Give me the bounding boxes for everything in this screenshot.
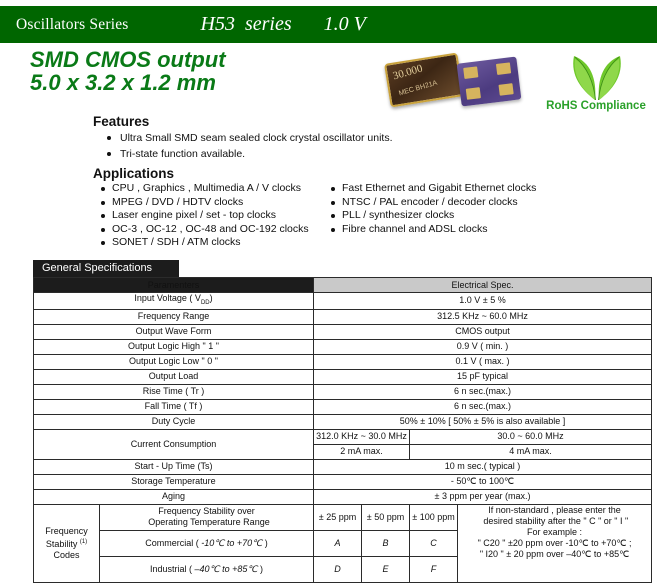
general-specifications-tab: General Specifications [33, 260, 179, 277]
value-frequency-range: 312.5 KHz ~ 60.0 MHz [314, 309, 652, 324]
fs-note-line1: If non-standard , please enter the [488, 505, 621, 515]
table-row: Rise Time ( Tr ) 6 n sec.(max.) [34, 384, 652, 399]
list-item: Ultra Small SMD seam sealed clock crysta… [104, 130, 393, 146]
fs-ppm-col-1: ± 25 ppm [314, 504, 362, 530]
table-row-frequency-stability-header: Frequency Stability (1) Codes Frequency … [34, 504, 652, 530]
param-rise-time: Rise Time ( Tr ) [34, 384, 314, 399]
fs-header-line1: Frequency Stability over [158, 506, 255, 516]
value-output-wave-form: CMOS output [314, 324, 652, 339]
fs-grade-name: Industrial ( [150, 564, 195, 574]
param-aging: Aging [34, 489, 314, 504]
list-item: Fast Ethernet and Gigabit Ethernet clock… [330, 182, 536, 196]
fs-code-industrial-100ppm: F [410, 556, 458, 582]
current-consumption-value-high: 4 mA max. [410, 444, 652, 459]
table-row: Frequency Range 312.5 KHz ~ 60.0 MHz [34, 309, 652, 324]
fs-row-header-temp-range: Frequency Stability over Operating Tempe… [100, 504, 314, 530]
product-title-line1: SMD CMOS output [30, 47, 226, 72]
fs-grade-industrial: Industrial ( –40℃ to +85℃ ) [100, 556, 314, 582]
list-item: Tri-state function available. [104, 146, 393, 162]
param-output-logic-low: Output Logic Low " 0 " [34, 354, 314, 369]
oscillator-chip-bottom-view-icon [457, 57, 522, 107]
oscillator-chip-top-view-icon: 30.000 MEC BH21A [384, 52, 464, 107]
value-output-load: 15 pF typical [314, 369, 652, 384]
fs-code-industrial-50ppm: E [362, 556, 410, 582]
model-name: H53 [201, 13, 235, 35]
fs-note-line4: " C20 " ±20 ppm over -10℃ to +70℃ ; [478, 538, 632, 548]
fs-header-line2: Operating Temperature Range [148, 517, 269, 527]
value-rise-time: 6 n sec.(max.) [314, 384, 652, 399]
fs-grade-close: ) [262, 538, 268, 548]
product-photo-group: 30.000 MEC BH21A [383, 48, 541, 114]
param-input-voltage: Input Voltage ( VDD) [34, 293, 314, 310]
fs-grade-name: Commercial ( [145, 538, 201, 548]
fs-grade-range: –40℃ to +85℃ [195, 564, 258, 574]
param-fall-time: Fall Time ( Tf ) [34, 399, 314, 414]
table-row: Duty Cycle 50% ± 10% [ 50% ± 5% is also … [34, 414, 652, 429]
param-frequency-stability-codes: Frequency Stability (1) Codes [34, 504, 100, 582]
list-item: CPU , Graphics , Multimedia A / V clocks [100, 182, 309, 196]
table-row: Fall Time ( Tf ) 6 n sec.(max.) [34, 399, 652, 414]
fs-ppm-col-3: ± 100 ppm [410, 504, 458, 530]
param-output-logic-high: Output Logic High " 1 " [34, 339, 314, 354]
rohs-badge: RoHS Compliance [540, 48, 652, 116]
table-row: Start - Up Time (Ts) 10 m sec.( typical … [34, 459, 652, 474]
value-start-up-time: 10 m sec.( typical ) [314, 459, 652, 474]
list-item: OC-3 , OC-12 , OC-48 and OC-192 clocks [100, 223, 309, 237]
features-heading: Features [93, 114, 149, 129]
table-row: Output Logic High " 1 " 0.9 V ( min. ) [34, 339, 652, 354]
applications-list-left: CPU , Graphics , Multimedia A / V clocks… [100, 182, 309, 250]
table-row: Current Consumption 312.0 KHz ~ 30.0 MHz… [34, 429, 652, 444]
green-leaves-icon [564, 48, 630, 102]
value-output-logic-low: 0.1 V ( max. ) [314, 354, 652, 369]
rohs-label: RoHS Compliance [540, 100, 652, 112]
fs-label-footnote: (1) [80, 539, 87, 545]
param-storage-temperature: Storage Temperature [34, 474, 314, 489]
fs-code-commercial-50ppm: B [362, 530, 410, 556]
solder-pad-icon [496, 62, 511, 75]
features-list: Ultra Small SMD seam sealed clock crysta… [104, 130, 393, 162]
header-banner: Oscillators Series H53 series 1.0 V [0, 6, 657, 43]
fs-grade-commercial: Commercial ( -10℃ to +70℃ ) [100, 530, 314, 556]
table-header-row: Paramenters Electrical Spec. [34, 278, 652, 293]
current-consumption-range-low: 312.0 KHz ~ 30.0 MHz [314, 429, 410, 444]
fs-note-line5: " I20 " ± 20 ppm over –40℃ to +85℃ [480, 549, 629, 559]
table-row: Input Voltage ( VDD) 1.0 V ± 5 % [34, 293, 652, 310]
list-item: Laser engine pixel / set - top clocks [100, 209, 309, 223]
table-row: Output Logic Low " 0 " 0.1 V ( max. ) [34, 354, 652, 369]
list-item: MPEG / DVD / HDTV clocks [100, 196, 309, 210]
param-start-up-time: Start - Up Time (Ts) [34, 459, 314, 474]
applications-heading: Applications [93, 166, 174, 181]
solder-pad-icon [466, 87, 481, 100]
model-suffix: series [245, 13, 292, 35]
param-current-consumption: Current Consumption [34, 429, 314, 459]
column-header-electrical-spec: Electrical Spec. [314, 278, 652, 293]
list-item: PLL / synthesizer clocks [330, 209, 536, 223]
value-fall-time: 6 n sec.(max.) [314, 399, 652, 414]
voltage-label: 1.0 V [324, 13, 366, 36]
fs-label-prefix: Frequency Stability [45, 526, 88, 549]
datasheet-page: Oscillators Series H53 series 1.0 V SMD … [0, 0, 657, 587]
fs-code-commercial-100ppm: C [410, 530, 458, 556]
fs-note-line2: desired stability after the " C " or " I… [483, 516, 628, 526]
solder-pad-icon [463, 66, 478, 79]
fs-grade-close: ) [258, 564, 264, 574]
list-item: NTSC / PAL encoder / decoder clocks [330, 196, 536, 210]
fs-note-block: If non-standard , please enter the desir… [458, 504, 652, 582]
table-row: Storage Temperature - 50℃ to 100℃ [34, 474, 652, 489]
param-output-wave-form: Output Wave Form [34, 324, 314, 339]
fs-label-suffix: Codes [53, 550, 79, 560]
list-item: Fibre channel and ADSL clocks [330, 223, 536, 237]
list-item: SONET / SDH / ATM clocks [100, 236, 309, 250]
param-frequency-range: Frequency Range [34, 309, 314, 324]
product-title: SMD CMOS output 5.0 x 3.2 x 1.2 mm [30, 48, 226, 94]
table-row: Output Load 15 pF typical [34, 369, 652, 384]
table-row: Output Wave Form CMOS output [34, 324, 652, 339]
param-output-load: Output Load [34, 369, 314, 384]
series-label: Oscillators Series [16, 16, 129, 34]
chip-frequency-marking: 30.000 [392, 63, 424, 83]
value-duty-cycle: 50% ± 10% [ 50% ± 5% is also available ] [314, 414, 652, 429]
value-input-voltage: 1.0 V ± 5 % [314, 293, 652, 310]
applications-list-right: Fast Ethernet and Gigabit Ethernet clock… [330, 182, 536, 236]
value-aging: ± 3 ppm per year (max.) [314, 489, 652, 504]
fs-code-industrial-25ppm: D [314, 556, 362, 582]
param-duty-cycle: Duty Cycle [34, 414, 314, 429]
value-storage-temperature: - 50℃ to 100℃ [314, 474, 652, 489]
model-title: H53 series [201, 13, 292, 36]
column-header-parameters: Paramenters [34, 278, 314, 293]
table-row: Aging ± 3 ppm per year (max.) [34, 489, 652, 504]
specifications-table: Paramenters Electrical Spec. Input Volta… [33, 277, 652, 583]
fs-code-commercial-25ppm: A [314, 530, 362, 556]
product-title-line2: 5.0 x 3.2 x 1.2 mm [30, 71, 226, 94]
fs-ppm-col-2: ± 50 ppm [362, 504, 410, 530]
solder-pad-icon [498, 83, 513, 96]
fs-grade-range: -10℃ to +70℃ [201, 538, 262, 548]
current-consumption-range-high: 30.0 ~ 60.0 MHz [410, 429, 652, 444]
chip-partcode-marking: MEC BH21A [398, 80, 438, 98]
fs-note-line3: For example : [527, 527, 582, 537]
value-output-logic-high: 0.9 V ( min. ) [314, 339, 652, 354]
current-consumption-value-low: 2 mA max. [314, 444, 410, 459]
